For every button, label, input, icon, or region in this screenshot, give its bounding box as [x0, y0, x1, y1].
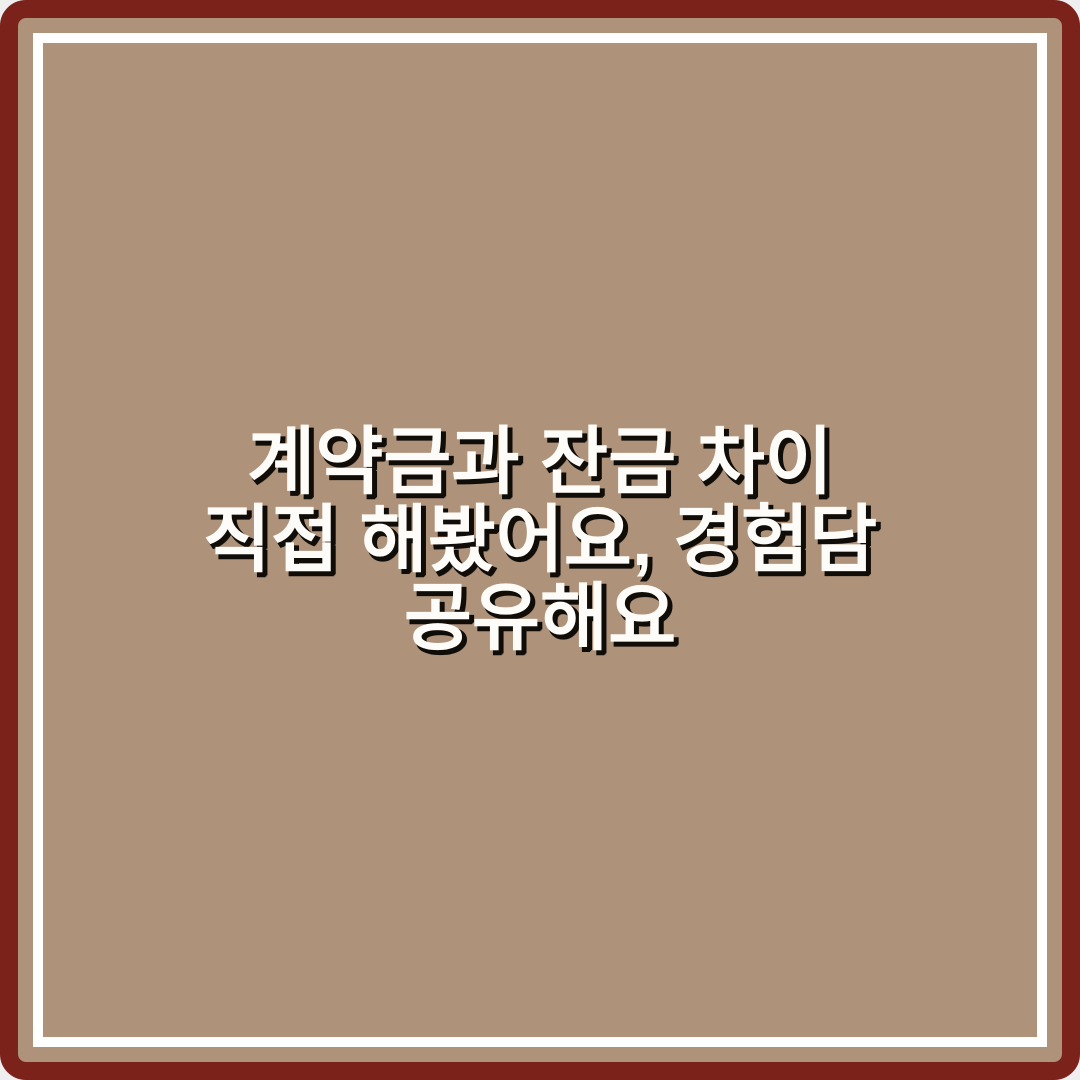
title-line-3: 공유해요 [103, 579, 977, 657]
title-line-1: 계약금과 잔금 차이 [103, 423, 977, 501]
inner-white-frame: 계약금과 잔금 차이 직접 해봤어요, 경험담 공유해요 [33, 33, 1047, 1047]
title-line-2: 직접 해봤어요, 경험담 [103, 501, 977, 579]
poster-card: 계약금과 잔금 차이 직접 해봤어요, 경험담 공유해요 [0, 0, 1080, 1080]
poster-canvas: 계약금과 잔금 차이 직접 해봤어요, 경험담 공유해요 [0, 0, 1080, 1080]
title-block: 계약금과 잔금 차이 직접 해봤어요, 경험담 공유해요 [43, 423, 1037, 657]
